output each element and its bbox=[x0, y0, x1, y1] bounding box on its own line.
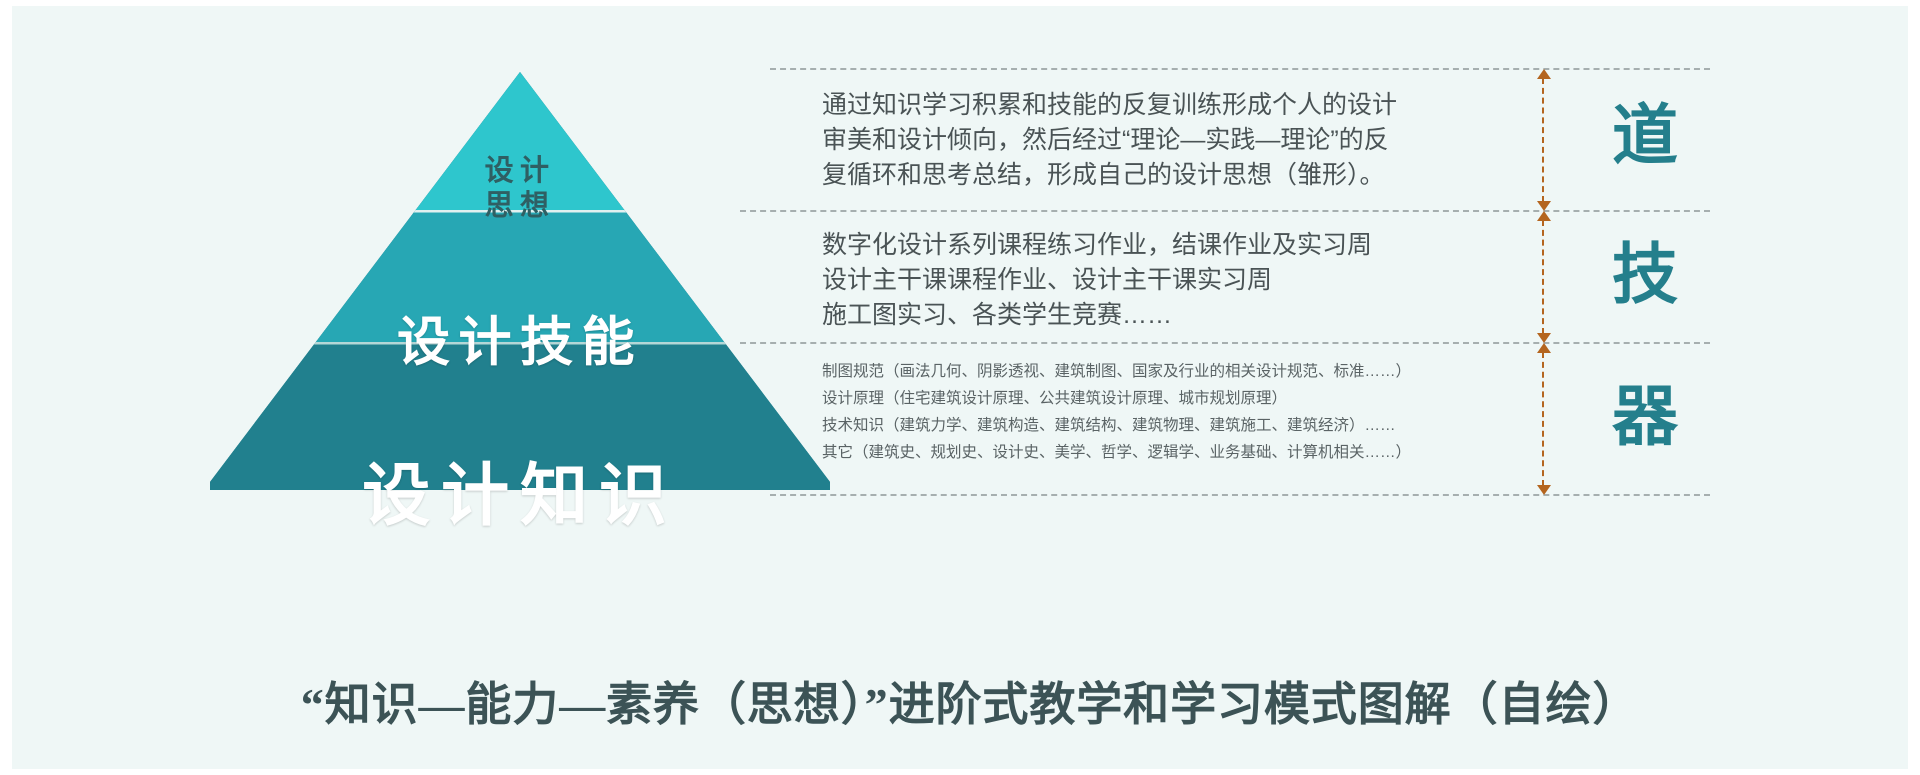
figure-caption: “知识—能力—素养（思想）”进阶式教学和学习模式图解（自绘） bbox=[10, 668, 1920, 734]
double-arrow-dao bbox=[1542, 78, 1544, 202]
double-arrow-qi bbox=[1542, 352, 1544, 486]
description-line: 制图规范（画法几何、阴影透视、建筑制图、国家及行业的相关设计规范、标准……） bbox=[822, 358, 1411, 385]
slide-edge-right bbox=[1908, 0, 1920, 775]
marker-char-ji: 技 bbox=[1590, 243, 1700, 309]
description-line: 技术知识（建筑力学、建筑构造、建筑结构、建筑物理、建筑施工、建筑经济）…… bbox=[822, 412, 1411, 439]
divider-rule-bottom bbox=[770, 494, 1710, 496]
divider-rule-1 bbox=[740, 210, 1710, 212]
pyramid: 设计 思想 设计技能 设计知识 bbox=[210, 72, 830, 497]
description-line: 审美和设计倾向，然后经过“理论—实践—理论”的反 bbox=[822, 123, 1397, 158]
description-block-knowledge: 制图规范（画法几何、阴影透视、建筑制图、国家及行业的相关设计规范、标准……） 设… bbox=[822, 358, 1411, 466]
description-line: 施工图实习、各类学生竞赛…… bbox=[822, 298, 1372, 333]
marker-char-dao: 道 bbox=[1590, 104, 1700, 170]
description-block-thinking: 通过知识学习积累和技能的反复训练形成个人的设计 审美和设计倾向，然后经过“理论—… bbox=[822, 88, 1397, 193]
pyramid-label-bottom: 设计知识 bbox=[210, 440, 830, 539]
description-line: 其它（建筑史、规划史、设计史、美学、哲学、逻辑学、业务基础、计算机相关……） bbox=[822, 439, 1411, 466]
arrow-column bbox=[1530, 0, 1560, 500]
slide-canvas: 设计 思想 设计技能 设计知识 通过知识学习积累和技能的反复训练形成个人的设计 … bbox=[0, 0, 1920, 775]
slide-edge-left bbox=[0, 0, 12, 775]
description-line: 复循环和思考总结，形成自己的设计思想（雏形）。 bbox=[822, 158, 1397, 193]
slide-edge-top bbox=[0, 0, 1920, 6]
divider-rule-top bbox=[770, 68, 1710, 70]
slide-edge-bottom bbox=[0, 769, 1920, 775]
description-line: 设计主干课课程作业、设计主干课实习周 bbox=[822, 263, 1372, 298]
divider-rule-2 bbox=[740, 342, 1710, 344]
pyramid-label-top-line1: 设计 bbox=[210, 154, 830, 189]
pyramid-shape bbox=[210, 72, 830, 497]
description-line: 数字化设计系列课程练习作业，结课作业及实习周 bbox=[822, 228, 1372, 263]
pyramid-diagram: 设计 思想 设计技能 设计知识 通过知识学习积累和技能的反复训练形成个人的设计 … bbox=[10, 0, 1920, 500]
pyramid-label-top-line2: 思想 bbox=[210, 189, 830, 224]
description-line: 设计原理（住宅建筑设计原理、公共建筑设计原理、城市规划原理） bbox=[822, 385, 1411, 412]
description-line: 通过知识学习积累和技能的反复训练形成个人的设计 bbox=[822, 88, 1397, 123]
double-arrow-ji bbox=[1542, 220, 1544, 334]
pyramid-label-top: 设计 思想 bbox=[210, 154, 830, 225]
marker-char-qi: 器 bbox=[1590, 385, 1700, 451]
description-block-skills: 数字化设计系列课程练习作业，结课作业及实习周 设计主干课课程作业、设计主干课实习… bbox=[822, 228, 1372, 333]
pyramid-label-middle: 设计技能 bbox=[210, 300, 830, 376]
